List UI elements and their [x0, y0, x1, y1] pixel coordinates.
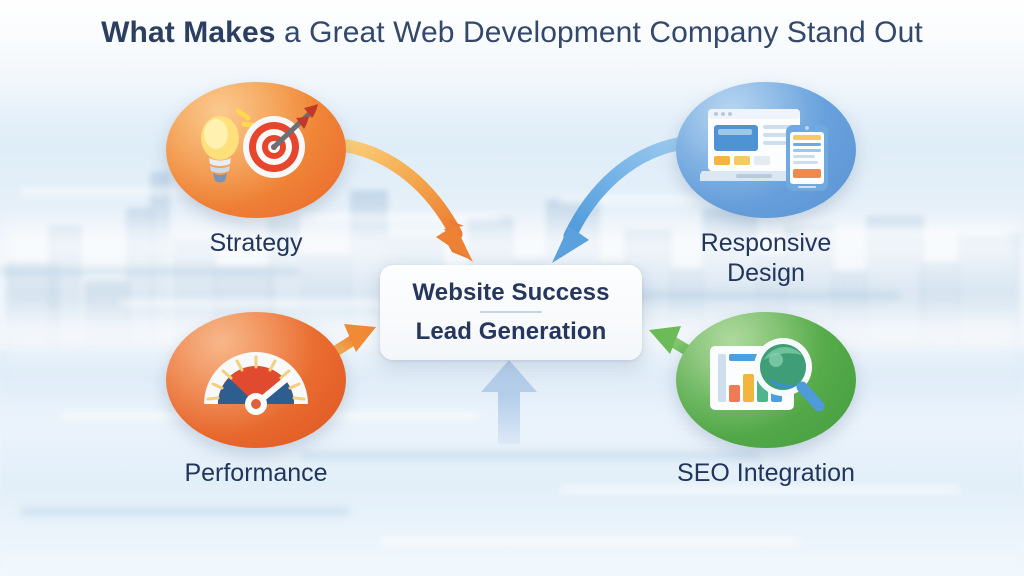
center-card-line-2: Lead Generation: [416, 317, 607, 347]
bar-chart-magnifier-icon: [704, 332, 828, 429]
cloud-streak: [0, 268, 300, 275]
node-performance[interactable]: Performance: [166, 312, 346, 488]
seo-bubble[interactable]: [676, 312, 856, 448]
page-title-rest: a Great Web Development Company Stand Ou…: [276, 16, 923, 49]
laptop-mobile-icon: [700, 101, 832, 200]
center-card-line-1: Website Success: [412, 278, 609, 308]
cloud-streak: [380, 538, 800, 545]
node-seo-integration-label: SEO Integration: [676, 458, 856, 488]
performance-bubble[interactable]: [166, 312, 346, 448]
node-strategy[interactable]: Strategy: [166, 82, 346, 258]
lightbulb-target-icon: [192, 102, 320, 199]
node-strategy-label: Strategy: [166, 228, 346, 258]
node-performance-label: Performance: [166, 458, 346, 488]
strategy-bubble[interactable]: [166, 82, 346, 218]
node-responsive-design[interactable]: Responsive Design: [676, 82, 856, 288]
page-title: What Makes a Great Web Development Compa…: [0, 16, 1024, 50]
node-seo-integration[interactable]: SEO Integration: [676, 312, 856, 488]
center-card-divider: [480, 311, 542, 313]
node-responsive-design-label: Responsive Design: [676, 228, 856, 288]
page-title-bold: What Makes: [101, 16, 275, 49]
responsive-bubble[interactable]: [676, 82, 856, 218]
infographic-canvas: What Makes a Great Web Development Compa…: [0, 0, 1024, 576]
speedometer-gauge-icon: [194, 336, 318, 425]
cloud-streak: [20, 508, 350, 515]
center-outcome-card[interactable]: Website Success Lead Generation: [380, 265, 642, 360]
